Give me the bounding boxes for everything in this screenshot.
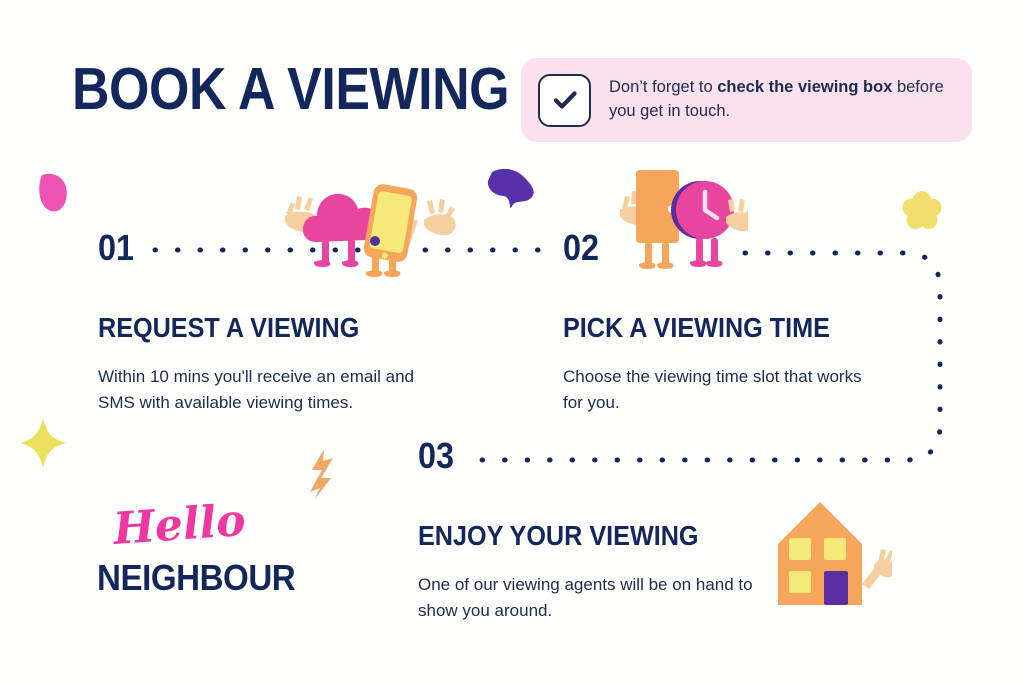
waving-hand-right-icon <box>424 199 456 235</box>
yellow-sparkle-icon <box>20 418 66 468</box>
step-body-text: One of our viewing agents will be on han… <box>418 572 758 625</box>
notice-text-before: Don’t forget to <box>609 78 717 96</box>
hello-neighbour-logo: Hello NEIGHBOUR <box>97 508 313 596</box>
clock-door-character-illustration <box>612 160 748 282</box>
check-mark-icon <box>551 86 579 114</box>
house-window-bottom-left-icon <box>789 571 811 593</box>
step-heading: PICK A VIEWING TIME <box>563 314 851 342</box>
step-heading: REQUEST A VIEWING <box>98 314 395 342</box>
orange-lightning-zigzag-icon <box>310 449 333 500</box>
house-window-top-left-icon <box>789 538 811 560</box>
yellow-flower-icon <box>903 191 942 229</box>
infographic-canvas: BOOK A VIEWING Don’t forget to check the… <box>0 0 1024 683</box>
orange-door-character-icon <box>636 170 679 269</box>
house-door-icon <box>824 571 848 605</box>
notice-text: Don’t forget to check the viewing box be… <box>609 76 954 124</box>
logo-block-word: NEIGHBOUR <box>97 560 295 596</box>
step-heading: ENJOY YOUR VIEWING <box>418 522 724 550</box>
house-waving-arm-icon <box>862 549 892 589</box>
waving-hand-right-icon <box>726 199 748 231</box>
step-body-text: Choose the viewing time slot that works … <box>563 364 883 417</box>
purple-ribbon-arrow-icon <box>488 169 534 208</box>
checkbox-checked-icon[interactable] <box>538 74 591 127</box>
house-window-top-right-icon <box>824 538 846 560</box>
page-title: BOOK A VIEWING <box>72 60 509 119</box>
house-illustration <box>762 492 892 617</box>
logo-script-word: Hello <box>112 494 312 552</box>
phone-holder-character-icon <box>362 183 418 277</box>
pink-confetti-swoosh-icon <box>39 174 67 212</box>
notice-text-bold: check the viewing box <box>717 78 892 96</box>
viewing-box-notice: Don’t forget to check the viewing box be… <box>521 58 972 142</box>
phone-character-illustration <box>272 178 457 288</box>
step-number: 03 <box>418 438 724 474</box>
step-item-03: 03 ENJOY YOUR VIEWING One of our viewing… <box>418 438 758 625</box>
step-body-text: Within 10 mins you'll receive an email a… <box>98 364 428 417</box>
pink-clock-character-icon <box>671 181 734 267</box>
